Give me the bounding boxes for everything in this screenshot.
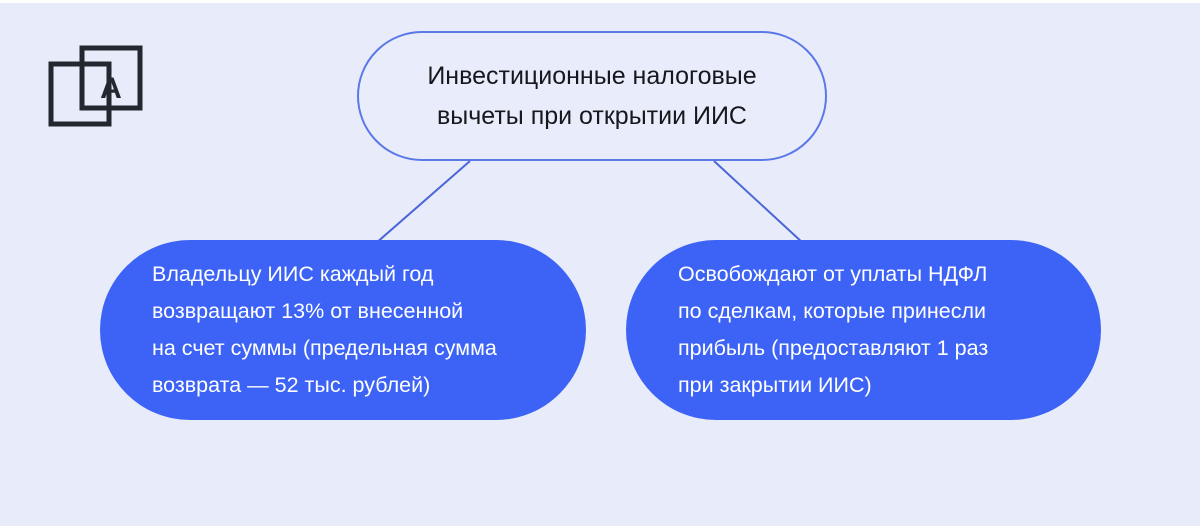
root-node: Инвестиционные налоговые вычеты при откр… bbox=[357, 31, 827, 161]
child-node-left-text: Владельцу ИИС каждый год возвращают 13% … bbox=[100, 256, 549, 404]
child-node-left: Владельцу ИИС каждый год возвращают 13% … bbox=[100, 240, 586, 420]
top-white-strip bbox=[0, 0, 1200, 3]
overlapping-squares-logo: A bbox=[48, 42, 144, 130]
diagram-canvas: A Инвестиционные налоговые вычеты при от… bbox=[0, 0, 1200, 526]
root-node-text: Инвестиционные налоговые вычеты при откр… bbox=[387, 56, 796, 136]
connector-root-to-left bbox=[375, 161, 470, 244]
child-node-right-text: Освобождают от уплаты НДФЛ по сделкам, к… bbox=[626, 256, 1040, 404]
logo-letter: A bbox=[100, 72, 122, 105]
connector-root-to-right bbox=[714, 161, 804, 244]
child-node-right: Освобождают от уплаты НДФЛ по сделкам, к… bbox=[626, 240, 1101, 420]
